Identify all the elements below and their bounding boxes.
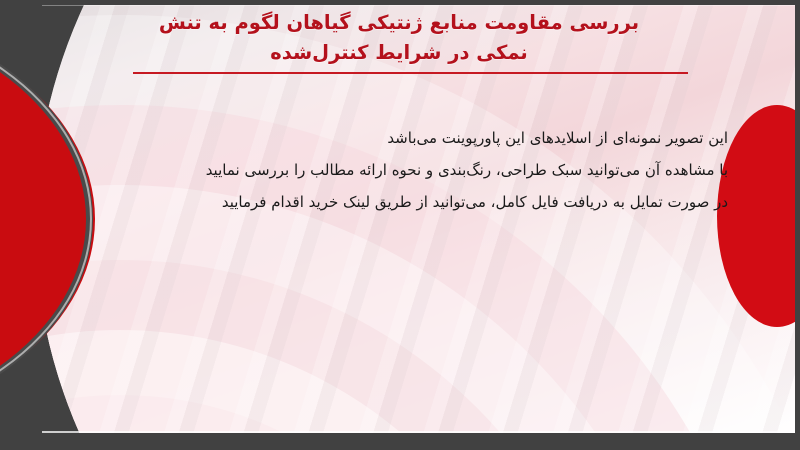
frame-edge-bottom-highlight [42,431,795,433]
frame-edge-top-highlight [42,5,795,6]
slide-content-panel [0,5,795,433]
presentation-slide: بررسی مقاومت منابع ژنتیکی گیاهان لگوم به… [0,0,800,450]
frame-edge-bottom [0,433,800,450]
diagonal-sheen [0,5,795,433]
frame-edge-right [795,0,800,450]
